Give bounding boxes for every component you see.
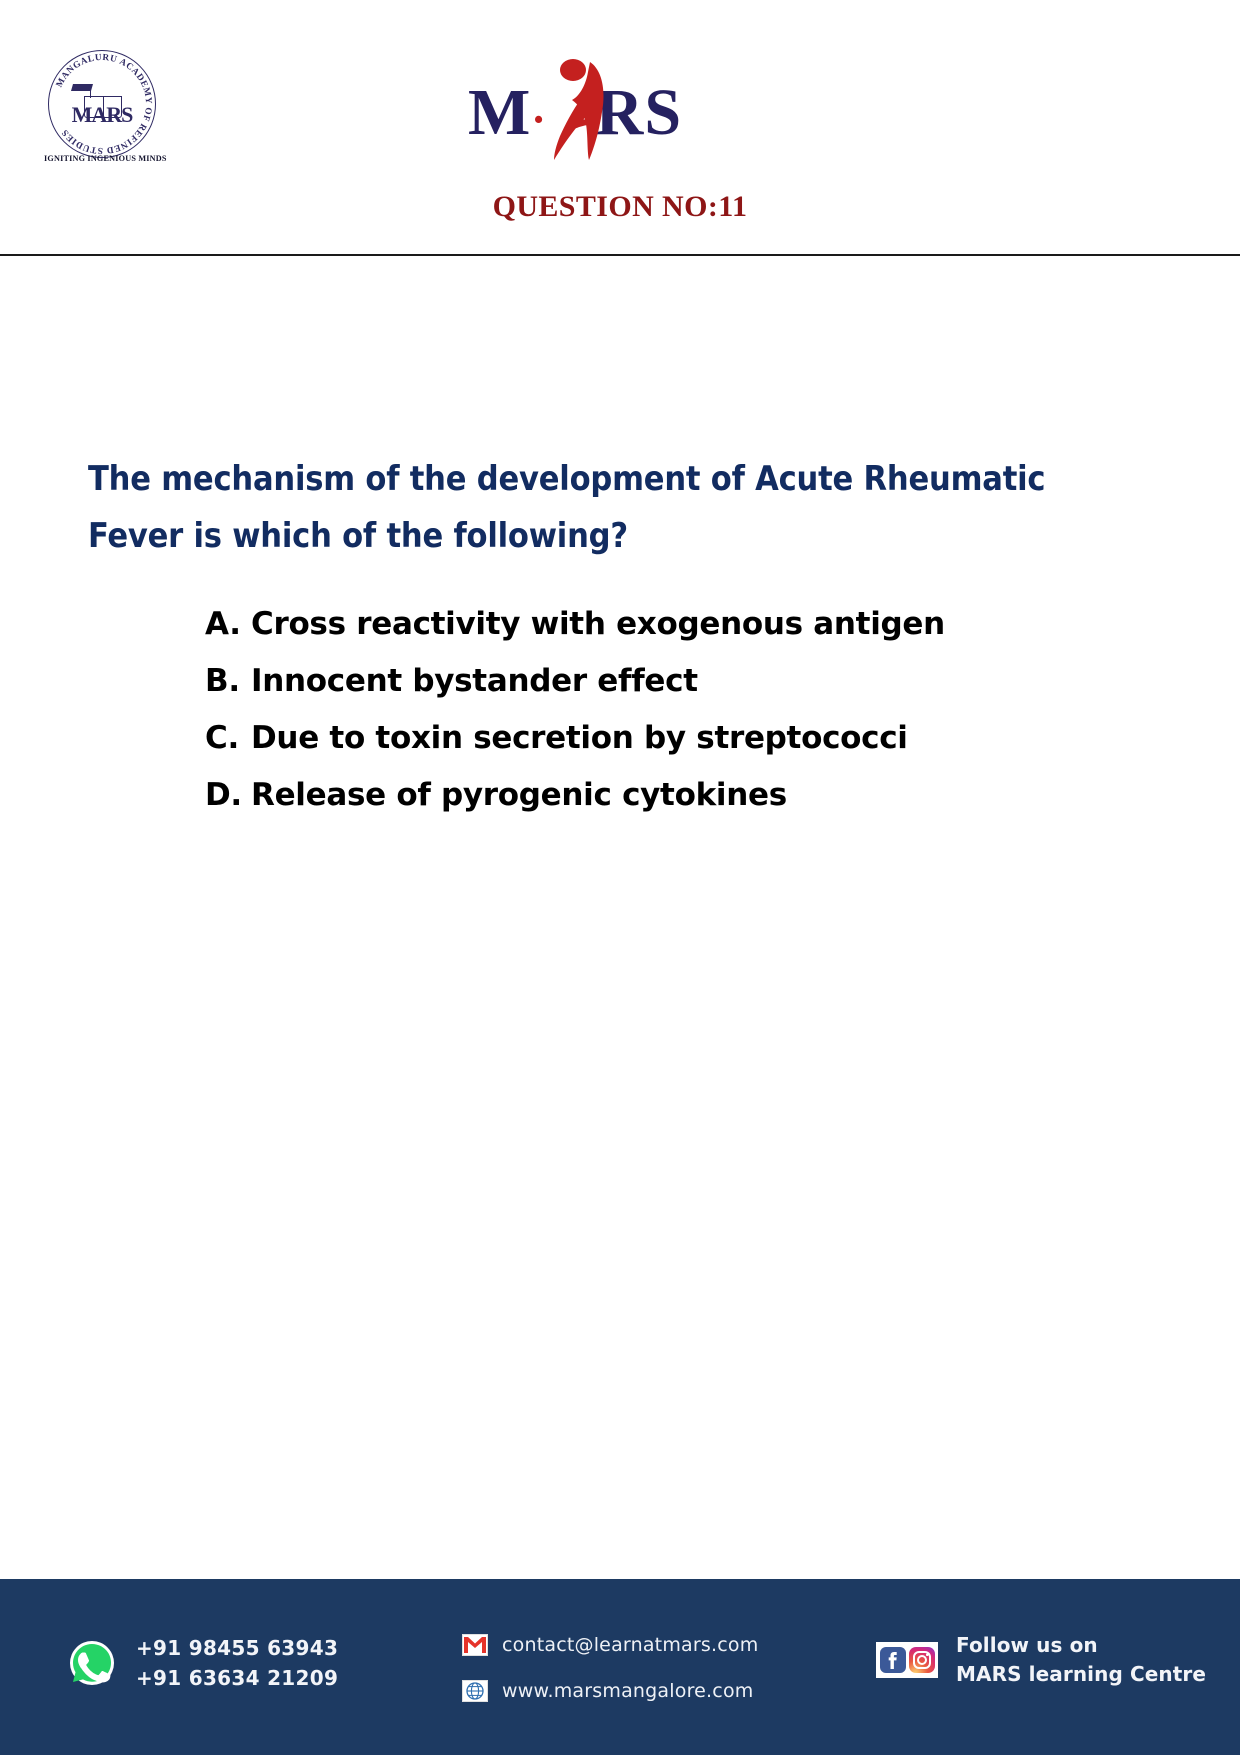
academy-seal-logo: MANGALURU ACADEMY OF REFINED STUDIES MAR… bbox=[44, 48, 164, 170]
email-row[interactable]: contact@learnatmars.com bbox=[462, 1627, 758, 1663]
option-c-letter: C. bbox=[205, 710, 251, 767]
mars-runner-figure-icon bbox=[542, 56, 628, 166]
page-header: MANGALURU ACADEMY OF REFINED STUDIES MAR… bbox=[0, 0, 1240, 256]
question-number-heading: QUESTION NO:11 bbox=[0, 190, 1240, 224]
social-icons-tile bbox=[876, 1642, 938, 1678]
website-url: www.marsmangalore.com bbox=[502, 1680, 753, 1702]
option-b[interactable]: B. Innocent bystander effect bbox=[205, 653, 1125, 710]
option-a-letter: A. bbox=[205, 596, 251, 653]
whatsapp-icon[interactable] bbox=[68, 1639, 116, 1687]
option-d-label: Release of pyrogenic cytokines bbox=[251, 767, 1125, 824]
phone-numbers: +91 98455 63943 +91 63634 21209 bbox=[136, 1633, 338, 1693]
seal-tagline: IGNITING INGENIOUS MINDS bbox=[44, 154, 164, 163]
option-d-letter: D. bbox=[205, 767, 251, 824]
page-content: The mechanism of the development of Acut… bbox=[0, 256, 1240, 1579]
question-text: The mechanism of the development of Acut… bbox=[88, 451, 1128, 565]
facebook-icon[interactable] bbox=[880, 1647, 906, 1673]
option-d[interactable]: D. Release of pyrogenic cytokines bbox=[205, 767, 1125, 824]
email-address: contact@learnatmars.com bbox=[502, 1634, 758, 1656]
globe-icon bbox=[462, 1680, 488, 1702]
footer-phone-block: +91 98455 63943 +91 63634 21209 bbox=[68, 1633, 338, 1693]
instagram-icon[interactable] bbox=[909, 1647, 935, 1673]
follow-us-line1: Follow us on bbox=[956, 1631, 1206, 1660]
follow-us-text: Follow us on MARS learning Centre bbox=[956, 1631, 1206, 1689]
option-c-label: Due to toxin secretion by streptococci bbox=[251, 710, 1125, 767]
seal-center-word: MARS bbox=[70, 104, 134, 126]
follow-us-line2: MARS learning Centre bbox=[956, 1660, 1206, 1689]
option-a[interactable]: A. Cross reactivity with exogenous antig… bbox=[205, 596, 1125, 653]
options-list: A. Cross reactivity with exogenous antig… bbox=[205, 596, 1125, 824]
gmail-icon bbox=[462, 1634, 488, 1656]
cap-tassel-icon bbox=[90, 86, 91, 98]
footer-social-block: Follow us on MARS learning Centre bbox=[876, 1631, 1206, 1689]
option-c[interactable]: C. Due to toxin secretion by streptococc… bbox=[205, 710, 1125, 767]
mars-wordmark-left: M bbox=[468, 76, 531, 149]
phone-number-2[interactable]: +91 63634 21209 bbox=[136, 1663, 338, 1693]
website-row[interactable]: www.marsmangalore.com bbox=[462, 1673, 758, 1709]
option-b-label: Innocent bystander effect bbox=[251, 653, 1125, 710]
mars-wordmark-logo: M·ARS bbox=[468, 56, 708, 168]
phone-number-1[interactable]: +91 98455 63943 bbox=[136, 1633, 338, 1663]
option-b-letter: B. bbox=[205, 653, 251, 710]
seal-emblem: MARS bbox=[70, 82, 134, 126]
page-footer: +91 98455 63943 +91 63634 21209 contact@… bbox=[0, 1579, 1240, 1755]
footer-contact-block: contact@learnatmars.com www.marsmangalor… bbox=[462, 1627, 758, 1719]
option-a-label: Cross reactivity with exogenous antigen bbox=[251, 596, 1125, 653]
